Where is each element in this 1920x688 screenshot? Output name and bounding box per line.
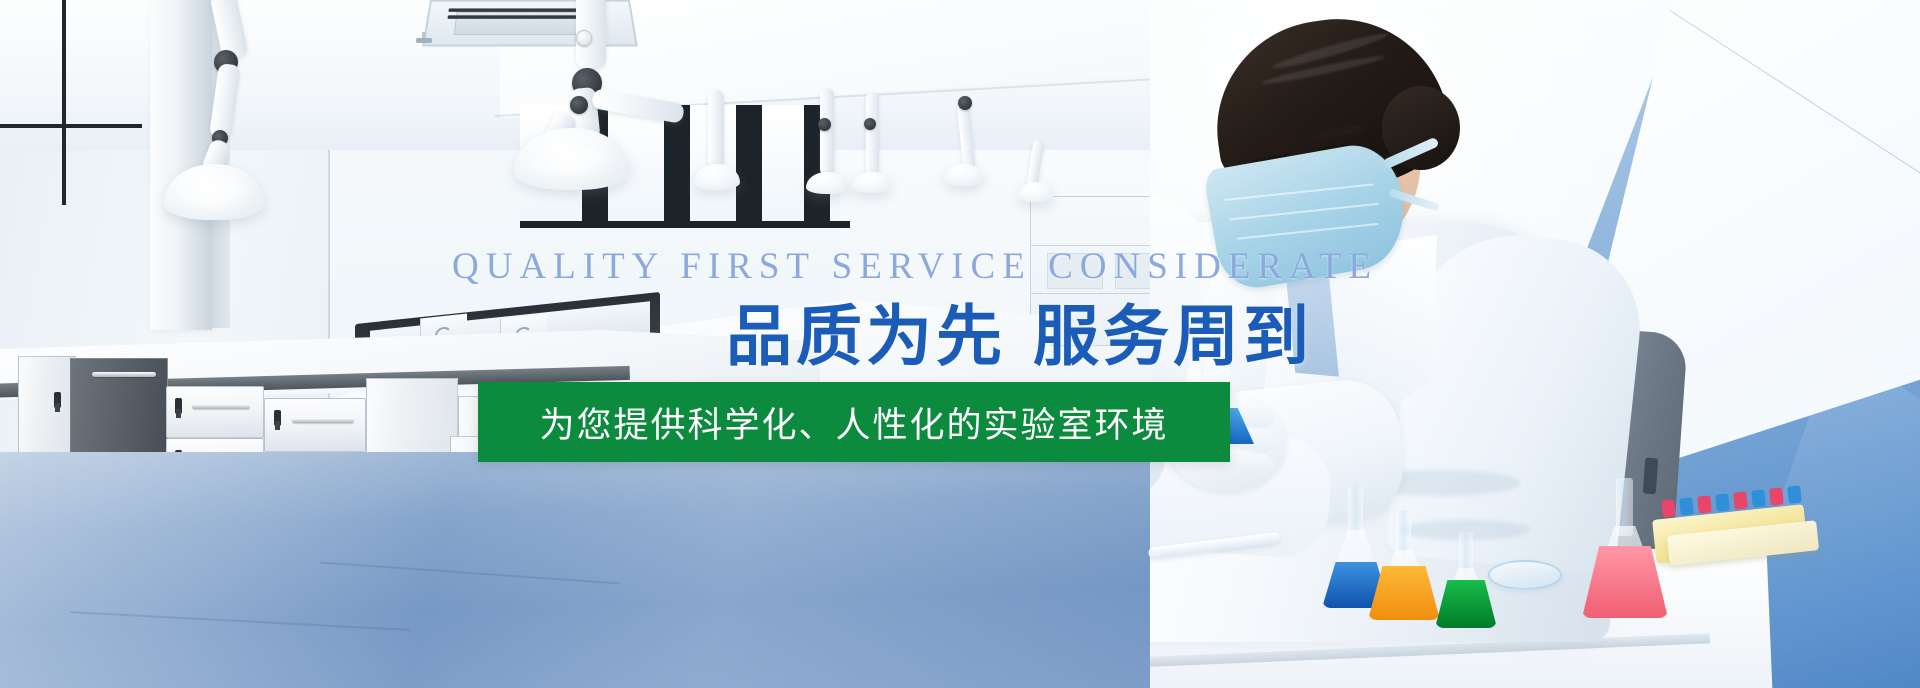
rack-tube: [1787, 485, 1802, 503]
rack-tube: [1751, 489, 1766, 507]
rack-tube: [1679, 497, 1694, 515]
rack-tube: [1733, 491, 1748, 509]
flask-green: [1435, 532, 1497, 628]
rack-tube: [1769, 487, 1784, 505]
rack-tube: [1715, 493, 1730, 511]
flask-liquid: [1368, 566, 1440, 620]
flask-liquid: [1435, 580, 1497, 628]
petri-dish: [1488, 560, 1562, 590]
desk-glassware-group: [0, 0, 1920, 688]
flask-orange: [1368, 510, 1440, 620]
rack-tube: [1697, 495, 1712, 513]
lab-hero-banner: QUALITY FIRST SERVICE CONSIDERATE 品质为先 服…: [0, 0, 1920, 688]
flat-pipette: [1148, 532, 1280, 559]
rack-tube: [1661, 499, 1676, 517]
